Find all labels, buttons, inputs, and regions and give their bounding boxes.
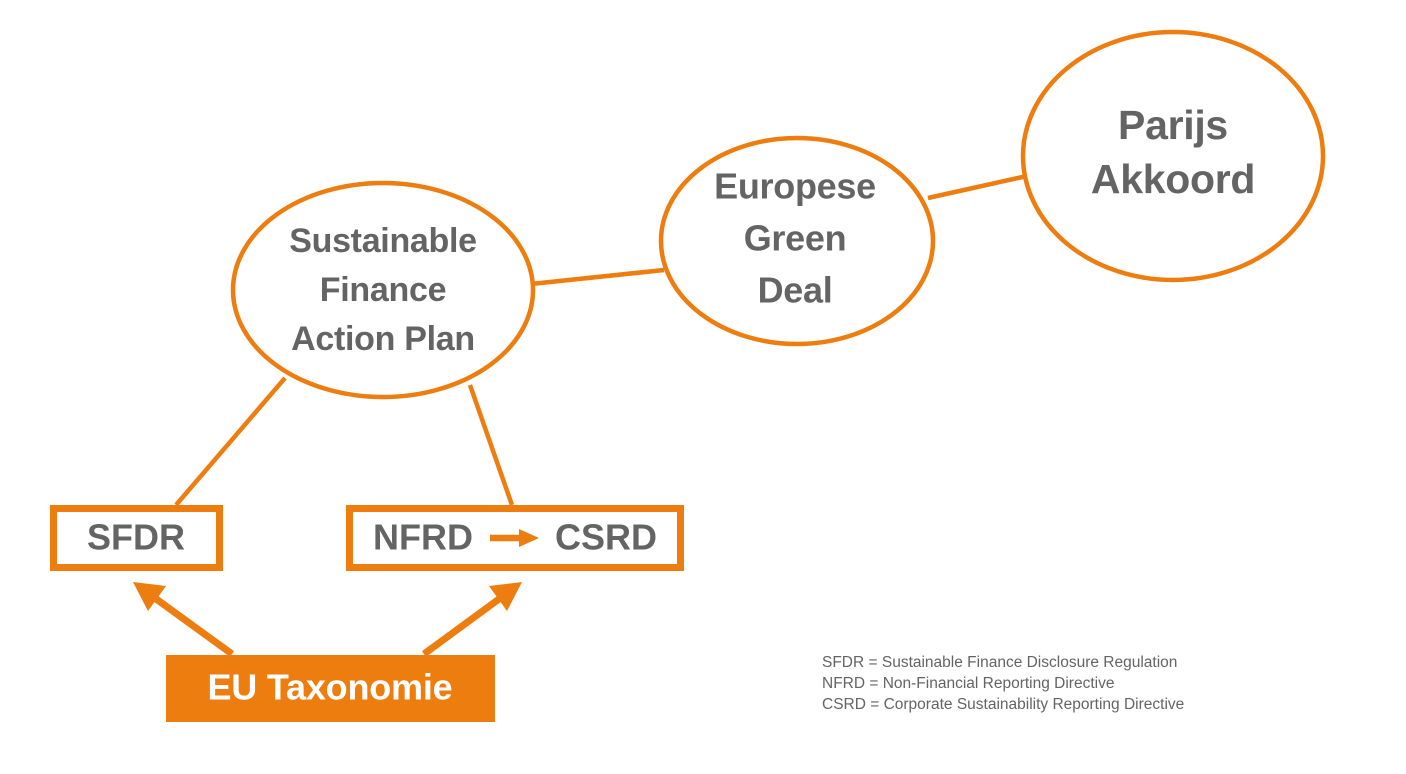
node-europese-green-deal[interactable]: Europese Green Deal [661, 138, 933, 344]
edge-sfap-sfdr [176, 378, 285, 505]
sfap-label-line-3: Action Plan [291, 320, 475, 358]
edge-green-deal-parijs [928, 176, 1027, 198]
europese-green-deal-label-line-2: Green [744, 218, 847, 259]
node-nfrd-csrd[interactable]: NFRD CSRD [350, 509, 681, 568]
nfrd-label: NFRD [373, 517, 473, 558]
parijs-akkoord-label-line-2: Akkoord [1091, 156, 1255, 202]
edge-sfap-nfrd [470, 385, 512, 505]
legend-line-csrd: CSRD = Corporate Sustainability Reportin… [822, 694, 1342, 715]
europese-green-deal-label-line-3: Deal [758, 270, 833, 311]
edge-taxonomie-sfdr [133, 582, 232, 654]
eu-taxonomie-label: EU Taxonomie [208, 667, 453, 708]
edge-sfap-green-deal [531, 270, 664, 284]
acronym-legend: SFDR = Sustainable Finance Disclosure Re… [822, 652, 1342, 715]
node-parijs-akkoord[interactable]: Parijs Akkoord [1023, 32, 1323, 280]
node-eu-taxonomie[interactable]: EU Taxonomie [166, 655, 495, 722]
parijs-akkoord-label-line-1: Parijs [1118, 102, 1228, 148]
legend-line-sfdr: SFDR = Sustainable Finance Disclosure Re… [822, 652, 1342, 673]
sfdr-label: SFDR [87, 517, 185, 558]
node-sustainable-finance-action-plan[interactable]: Sustainable Finance Action Plan [233, 183, 533, 397]
edge-taxonomie-nfrd [424, 582, 522, 654]
diagram-canvas-root: Parijs Akkoord Europese Green Deal Susta… [0, 0, 1406, 774]
csrd-label: CSRD [555, 517, 657, 558]
sfap-label-line-2: Finance [320, 271, 446, 309]
europese-green-deal-label-line-1: Europese [714, 166, 876, 207]
legend-line-nfrd: NFRD = Non-Financial Reporting Directive [822, 673, 1342, 694]
sfap-label-line-1: Sustainable [289, 222, 477, 260]
node-sfdr[interactable]: SFDR [54, 509, 220, 568]
